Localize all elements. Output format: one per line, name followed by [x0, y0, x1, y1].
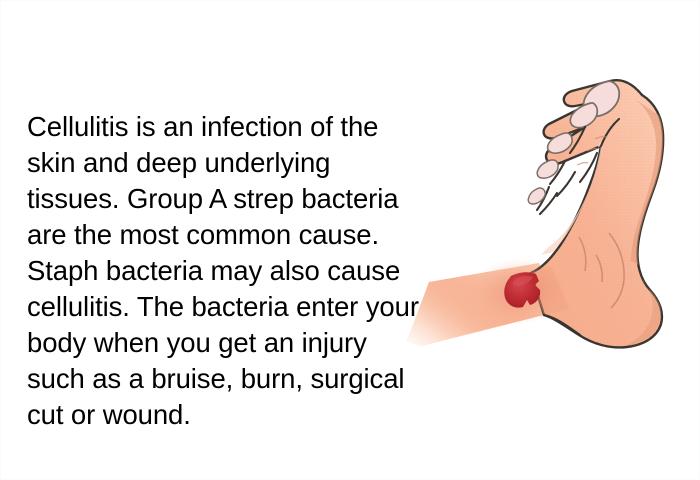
page-title: Cellulitis is an infection of the skin a…	[27, 109, 427, 433]
illustration-page: Cellulitis is an infection of the skin a…	[0, 0, 700, 480]
fourth-toe	[537, 160, 558, 210]
foot-illustration	[399, 41, 700, 401]
wound	[472, 258, 568, 324]
